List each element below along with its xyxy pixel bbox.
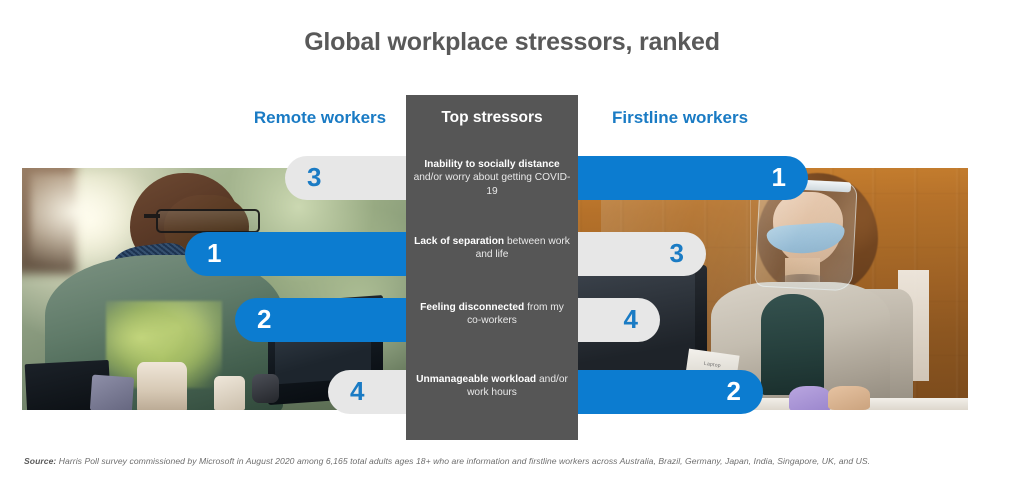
stressor-rest-text: and/or worry about getting COVID-19	[414, 172, 571, 196]
rank-bar-remote-1[interactable]: 3	[285, 156, 406, 200]
rank-bar-remote-2[interactable]: 1	[185, 232, 406, 276]
desk-object-two	[214, 376, 245, 410]
rank-number: 3	[307, 164, 321, 190]
stressor-bold-text: Unmanageable workload	[416, 374, 536, 385]
source-label: Source:	[24, 456, 56, 466]
rank-number: 1	[207, 240, 221, 266]
stressor-item-1: Inability to socially distance and/or wo…	[412, 158, 572, 198]
hand-shape	[828, 386, 871, 410]
stressor-bold-text: Feeling disconnected	[420, 302, 524, 313]
stressor-bold-text: Lack of separation	[414, 236, 504, 247]
gloved-hand-shape	[789, 386, 832, 410]
top-stressors-panel: Top stressors Inability to socially dist…	[406, 95, 578, 440]
rank-bar-firstline-2[interactable]: 3	[578, 232, 706, 276]
rank-number: 2	[727, 378, 741, 404]
rank-bar-firstline-3[interactable]: 4	[578, 298, 660, 342]
rank-number: 1	[772, 164, 786, 190]
stressor-item-3: Feeling disconnected from my co-workers	[412, 301, 572, 328]
rank-number: 3	[670, 240, 684, 266]
eyeglasses-shape	[156, 209, 260, 233]
rank-number: 2	[257, 306, 271, 332]
stressor-bold-text: Inability to socially distance	[424, 159, 559, 170]
stressor-item-4: Unmanageable workload and/or work hours	[412, 373, 572, 400]
rank-number: 4	[624, 306, 638, 332]
inner-top-shape	[761, 294, 823, 396]
rank-bar-firstline-4[interactable]: 2	[578, 370, 763, 414]
panel-title: Top stressors	[406, 109, 578, 127]
rank-bar-remote-3[interactable]: 2	[235, 298, 406, 342]
source-text: Harris Poll survey commissioned by Micro…	[56, 456, 870, 466]
laptop-brand-label: Laptop	[704, 361, 722, 369]
column-header-firstline-workers: Firstline workers	[575, 108, 785, 128]
column-header-remote-workers: Remote workers	[215, 108, 425, 128]
rank-bar-firstline-1[interactable]: 1	[578, 156, 808, 200]
desk-object-three	[252, 374, 279, 403]
page-title: Global workplace stressors, ranked	[0, 28, 1024, 57]
vase-shape	[137, 362, 187, 410]
source-footnote: Source: Harris Poll survey commissioned …	[24, 456, 1000, 466]
stressor-item-2: Lack of separation between work and life	[412, 235, 572, 262]
infographic-canvas: Global workplace stressors, ranked Remot…	[0, 0, 1024, 484]
desk-object-one	[90, 375, 135, 410]
rank-bar-remote-4[interactable]: 4	[328, 370, 406, 414]
rank-number: 4	[350, 378, 364, 404]
